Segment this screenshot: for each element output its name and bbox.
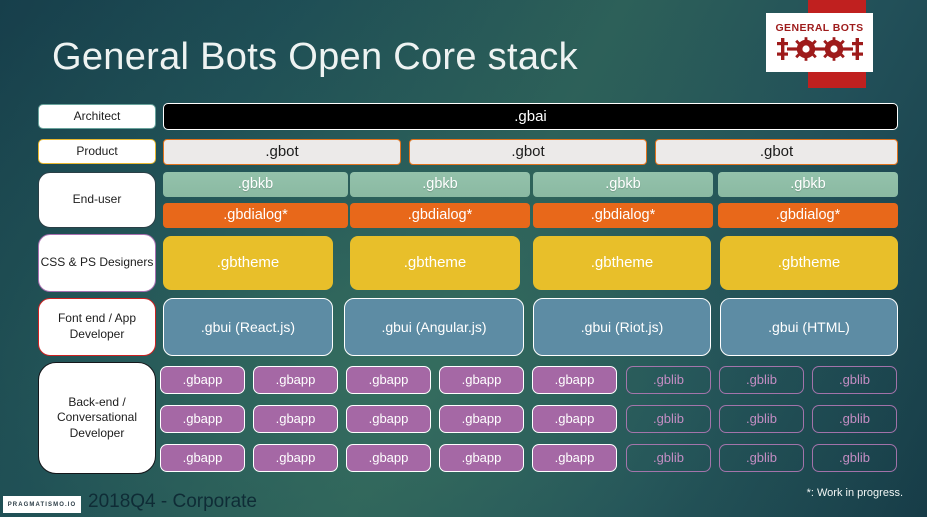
footer-caption: 2018Q4 - Corporate	[88, 491, 257, 513]
stack-block-gbui-angular[interactable]: .gbui (Angular.js)	[344, 298, 524, 356]
stack-block-gbapp[interactable]: .gbapp	[532, 405, 617, 433]
stack-block-label: .gbkb	[605, 176, 640, 193]
stack-block-gbapp[interactable]: .gbapp	[532, 366, 617, 394]
stack-block-label: .gbtheme	[217, 254, 280, 271]
stack-block-label: .gbdialog*	[223, 207, 288, 224]
stack-block-label: .gbapp	[183, 412, 223, 427]
stack-block-gbapp[interactable]: .gbapp	[532, 444, 617, 472]
stack-block-gbtheme[interactable]: .gbtheme	[533, 236, 711, 290]
stack-block-gbkb[interactable]: .gbkb	[718, 172, 898, 197]
two-gears-icon	[777, 36, 863, 62]
stack-block-label: .gblib	[839, 451, 870, 466]
role-label-text: Product	[76, 144, 117, 160]
stack-block-gbot[interactable]: .gbot	[409, 139, 647, 165]
stack-block-gbapp[interactable]: .gbapp	[346, 444, 431, 472]
stack-block-gblib[interactable]: .gblib	[812, 405, 897, 433]
stack-block-label: .gbapp	[555, 451, 595, 466]
stack-block-label: .gbapp	[276, 412, 316, 427]
stack-block-gbtheme[interactable]: .gbtheme	[720, 236, 898, 290]
role-label-product: Product	[38, 139, 156, 164]
stack-block-label: .gbot	[265, 143, 298, 160]
stack-block-gblib[interactable]: .gblib	[812, 444, 897, 472]
stack-block-label: .gblib	[746, 373, 777, 388]
stack-block-gblib[interactable]: .gblib	[719, 366, 804, 394]
stack-block-label: .gbapp	[555, 373, 595, 388]
stack-block-label: .gbapp	[369, 373, 409, 388]
stack-block-label: .gbtheme	[778, 254, 841, 271]
stack-block-label: .gbdialog*	[591, 207, 656, 224]
stack-block-label: .gbui (HTML)	[768, 319, 850, 335]
role-label-css-ps-designers: CSS & PS Designers	[38, 234, 156, 292]
stack-block-label: .gbdialog*	[408, 207, 473, 224]
stack-block-label: .gbai	[514, 108, 547, 125]
stack-block-gblib[interactable]: .gblib	[812, 366, 897, 394]
stack-block-label: .gbtheme	[404, 254, 467, 271]
stack-block-gblib[interactable]: .gblib	[719, 444, 804, 472]
stack-block-label: .gbui (Riot.js)	[581, 319, 663, 335]
role-label-text: End-user	[73, 192, 122, 208]
stack-block-gbkb[interactable]: .gbkb	[350, 172, 530, 197]
stack-block-label: .gbui (Angular.js)	[381, 319, 486, 335]
stack-block-label: .gblib	[746, 412, 777, 427]
stack-block-gbapp[interactable]: .gbapp	[253, 366, 338, 394]
stack-block-label: .gbdialog*	[776, 207, 841, 224]
stack-block-label: .gblib	[839, 373, 870, 388]
stack-block-label: .gbapp	[369, 451, 409, 466]
stack-block-gbui-riot[interactable]: .gbui (Riot.js)	[533, 298, 711, 356]
stack-block-label: .gblib	[839, 412, 870, 427]
role-label-back-end-conversational-developer: Back-end / Conversational Developer	[38, 362, 156, 474]
stack-block-gbapp[interactable]: .gbapp	[346, 366, 431, 394]
role-label-text: Architect	[74, 109, 121, 125]
stack-block-label: .gbtheme	[591, 254, 654, 271]
stack-block-label: .gbapp	[462, 451, 502, 466]
stack-block-label: .gbapp	[462, 373, 502, 388]
stack-block-gbtheme[interactable]: .gbtheme	[350, 236, 520, 290]
stack-block-gbot[interactable]: .gbot	[163, 139, 401, 165]
stack-block-label: .gblib	[653, 451, 684, 466]
stack-block-gblib[interactable]: .gblib	[626, 444, 711, 472]
role-label-text: Back-end / Conversational Developer	[39, 395, 155, 442]
role-label-front-end-app-developer: Font end / App Developer	[38, 298, 156, 356]
stack-block-label: .gbui (React.js)	[201, 319, 295, 335]
role-label-architect: Architect	[38, 104, 156, 129]
stack-block-gbapp[interactable]: .gbapp	[253, 405, 338, 433]
stack-block-label: .gbapp	[183, 451, 223, 466]
stack-block-label: .gbot	[511, 143, 544, 160]
stack-block-gbui-html[interactable]: .gbui (HTML)	[720, 298, 898, 356]
stack-block-gbapp[interactable]: .gbapp	[439, 444, 524, 472]
stack-block-gbdialog[interactable]: .gbdialog*	[163, 203, 348, 228]
stack-block-gblib[interactable]: .gblib	[626, 405, 711, 433]
stack-block-gbui-react[interactable]: .gbui (React.js)	[163, 298, 333, 356]
stack-block-gbdialog[interactable]: .gbdialog*	[350, 203, 530, 228]
stack-block-label: .gbot	[760, 143, 793, 160]
stack-block-gbot[interactable]: .gbot	[655, 139, 898, 165]
page-title: General Bots Open Core stack	[52, 36, 578, 79]
stack-block-label: .gblib	[746, 451, 777, 466]
stack-block-label: .gbapp	[276, 451, 316, 466]
stack-block-label: .gbapp	[462, 412, 502, 427]
stack-block-label: .gblib	[653, 412, 684, 427]
stack-block-gbtheme[interactable]: .gbtheme	[163, 236, 333, 290]
general-bots-logo: GENERAL BOTS	[766, 13, 873, 72]
stack-block-gbapp[interactable]: .gbapp	[439, 405, 524, 433]
stack-block-gbapp[interactable]: .gbapp	[160, 366, 245, 394]
role-label-end-user: End-user	[38, 172, 156, 228]
role-label-text: CSS & PS Designers	[41, 255, 154, 271]
stack-block-gbapp[interactable]: .gbapp	[253, 444, 338, 472]
pragmatismo-logo: PRAGMATISMO.IO	[3, 496, 81, 513]
pragmatismo-logo-text: PRAGMATISMO.IO	[8, 502, 77, 508]
stack-block-label: .gbapp	[555, 412, 595, 427]
stack-block-gbapp[interactable]: .gbapp	[160, 444, 245, 472]
stack-block-label: .gbkb	[238, 176, 273, 193]
stack-block-label: .gbkb	[790, 176, 825, 193]
role-label-text: Font end / App Developer	[39, 311, 155, 342]
stack-block-gbai[interactable]: .gbai	[163, 103, 898, 130]
stack-block-gbapp[interactable]: .gbapp	[346, 405, 431, 433]
stack-block-gbapp[interactable]: .gbapp	[160, 405, 245, 433]
slide-canvas: GENERAL BOTS	[0, 0, 927, 517]
stack-block-label: .gbapp	[369, 412, 409, 427]
stack-block-label: .gbkb	[422, 176, 457, 193]
logo-wordmark: GENERAL BOTS	[775, 23, 863, 34]
stack-block-gbkb[interactable]: .gbkb	[533, 172, 713, 197]
stack-block-gbkb[interactable]: .gbkb	[163, 172, 348, 197]
stack-block-gblib[interactable]: .gblib	[719, 405, 804, 433]
stack-block-gbdialog[interactable]: .gbdialog*	[718, 203, 898, 228]
footnote-work-in-progress: *: Work in progress.	[807, 487, 903, 499]
stack-block-gblib[interactable]: .gblib	[626, 366, 711, 394]
stack-block-gbdialog[interactable]: .gbdialog*	[533, 203, 713, 228]
stack-block-label: .gbapp	[183, 373, 223, 388]
stack-block-gbapp[interactable]: .gbapp	[439, 366, 524, 394]
stack-block-label: .gblib	[653, 373, 684, 388]
stack-block-label: .gbapp	[276, 373, 316, 388]
